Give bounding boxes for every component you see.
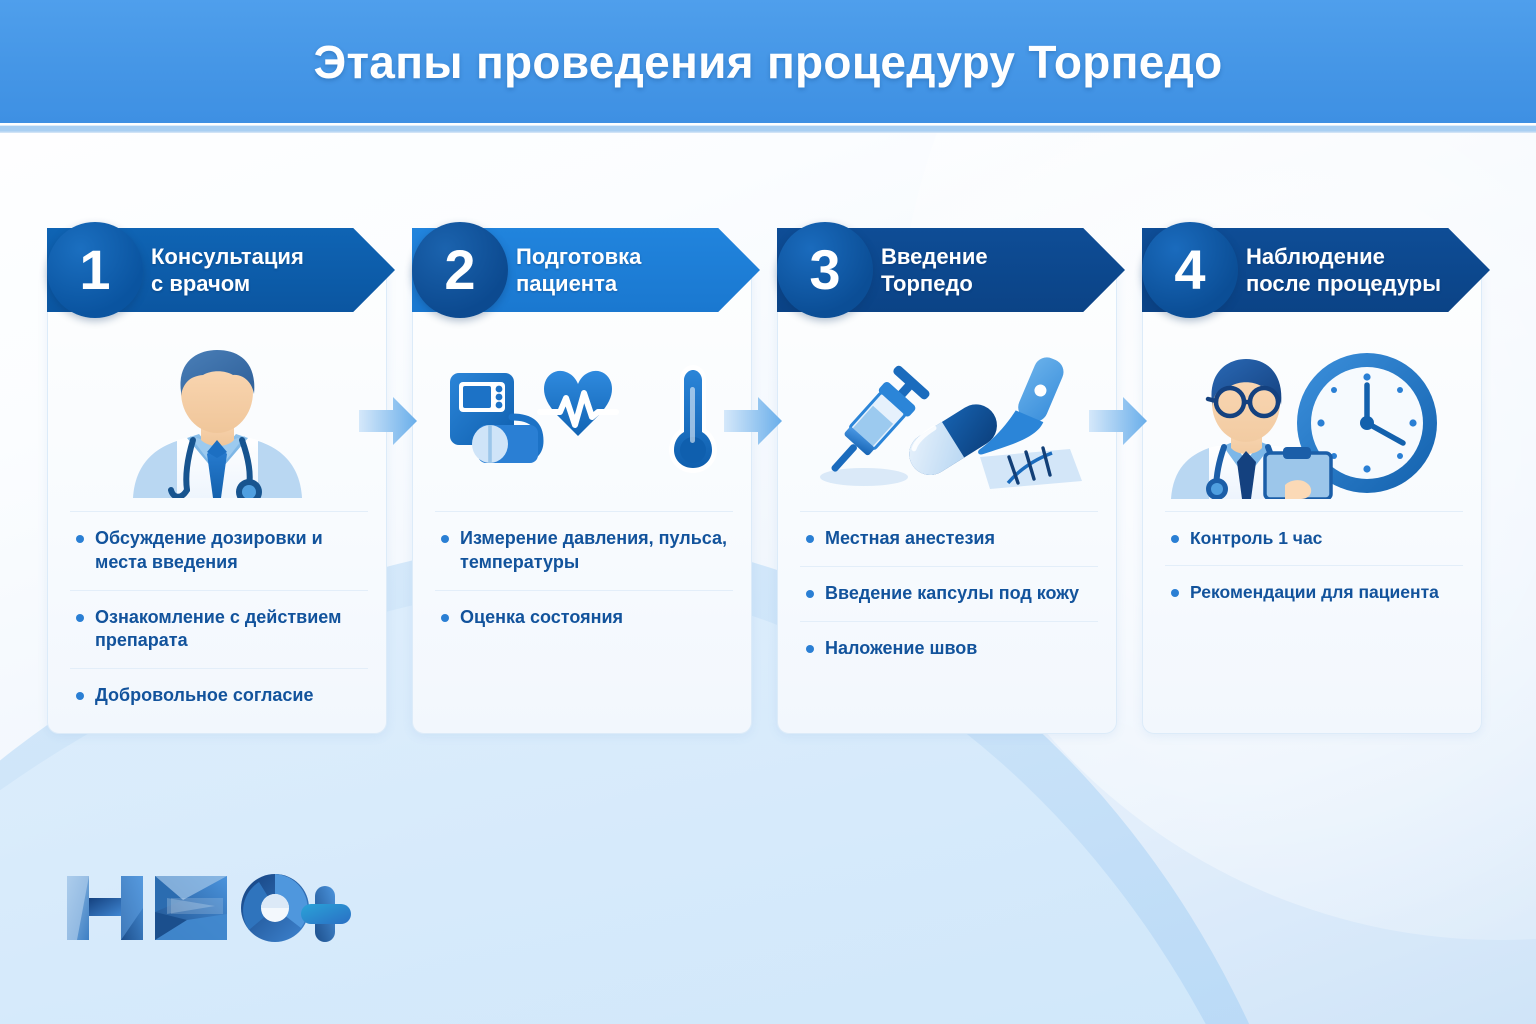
logo-letter-e bbox=[155, 876, 227, 940]
bullet-label: Наложение швов bbox=[825, 637, 977, 661]
step-number-label: 4 bbox=[1174, 242, 1205, 298]
step-4-bullet-list: Контроль 1 час Рекомендации для пациента bbox=[1165, 511, 1463, 619]
infographic-stage: Этапы проведения процедуру Торпедо bbox=[0, 0, 1536, 1024]
steps-container: Обсуждение дозировки и места введения Оз… bbox=[0, 228, 1536, 748]
step-3-illustration bbox=[778, 347, 1116, 499]
arrow-step3-to-step4 bbox=[1087, 395, 1149, 447]
bullet-dot-icon bbox=[441, 614, 449, 622]
step-3-bullet-list: Местная анестезия Введение капсулы под к… bbox=[800, 511, 1098, 675]
list-item: Обсуждение дозировки и места введения bbox=[70, 511, 368, 590]
header-accent-rule bbox=[0, 123, 1536, 133]
syringe-capsule-scalpel-icon bbox=[802, 353, 1092, 493]
bullet-dot-icon bbox=[441, 535, 449, 543]
thermometer-icon bbox=[669, 365, 717, 473]
step-1-title: Консультация с врачом bbox=[151, 243, 304, 298]
blood-pressure-monitor-icon bbox=[450, 373, 540, 463]
vitals-icons bbox=[444, 363, 720, 483]
step-number-label: 2 bbox=[444, 242, 475, 298]
bullet-label: Добровольное согласие bbox=[95, 684, 314, 708]
step-card-1[interactable]: Обсуждение дозировки и места введения Оз… bbox=[47, 262, 387, 734]
step-2-illustration bbox=[413, 347, 751, 499]
bullet-label: Оценка состояния bbox=[460, 606, 623, 630]
bullet-label: Введение капсулы под кожу bbox=[825, 582, 1079, 606]
doctor-clock-icon bbox=[1167, 347, 1457, 499]
step-1-number-badge: 1 bbox=[47, 222, 143, 318]
step-3-title: Введение Торпедо bbox=[881, 243, 988, 298]
bullet-dot-icon bbox=[76, 535, 84, 543]
bullet-dot-icon bbox=[76, 692, 84, 700]
list-item: Измерение давления, пульса, температуры bbox=[435, 511, 733, 590]
logo-plus-icon bbox=[301, 886, 351, 942]
list-item: Добровольное согласие bbox=[70, 668, 368, 723]
neo-plus-logo bbox=[63, 868, 353, 948]
step-4-title: Наблюдение после процедуры bbox=[1246, 243, 1441, 298]
suture-icon bbox=[980, 448, 1082, 489]
logo-letter-n bbox=[67, 876, 143, 940]
page-title: Этапы проведения процедуру Торпедо bbox=[313, 35, 1222, 89]
bullet-dot-icon bbox=[1171, 535, 1179, 543]
step-2-title: Подготовка пациента bbox=[516, 243, 641, 298]
step-4-number-badge: 4 bbox=[1142, 222, 1238, 318]
page-header: Этапы проведения процедуру Торпедо bbox=[0, 0, 1536, 123]
doctor-icon bbox=[115, 348, 320, 498]
bullet-dot-icon bbox=[76, 614, 84, 622]
step-card-2[interactable]: Измерение давления, пульса, температуры … bbox=[412, 262, 752, 734]
list-item: Местная анестезия bbox=[800, 511, 1098, 566]
bullet-label: Рекомендации для пациента bbox=[1190, 581, 1439, 604]
list-item: Оценка состояния bbox=[435, 590, 733, 645]
bullet-dot-icon bbox=[806, 645, 814, 653]
step-number-label: 3 bbox=[809, 242, 840, 298]
list-item: Ознакомление с действием препарата bbox=[70, 590, 368, 669]
bullet-dot-icon bbox=[806, 590, 814, 598]
step-3-number-badge: 3 bbox=[777, 222, 873, 318]
list-item: Контроль 1 час bbox=[1165, 511, 1463, 565]
bullet-label: Измерение давления, пульса, температуры bbox=[460, 527, 729, 575]
bullet-label: Местная анестезия bbox=[825, 527, 995, 551]
step-card-4[interactable]: Контроль 1 час Рекомендации для пациента bbox=[1142, 262, 1482, 734]
step-2-bullet-list: Измерение давления, пульса, температуры … bbox=[435, 511, 733, 644]
bullet-label: Обсуждение дозировки и места введения bbox=[95, 527, 364, 575]
arrow-step2-to-step3 bbox=[722, 395, 784, 447]
list-item: Введение капсулы под кожу bbox=[800, 566, 1098, 621]
step-4-illustration bbox=[1143, 347, 1481, 499]
bullet-label: Ознакомление с действием препарата bbox=[95, 606, 364, 654]
logo-letter-o bbox=[241, 874, 309, 942]
bullet-dot-icon bbox=[1171, 589, 1179, 597]
step-2-number-badge: 2 bbox=[412, 222, 508, 318]
step-1-bullet-list: Обсуждение дозировки и места введения Оз… bbox=[70, 511, 368, 723]
bullet-dot-icon bbox=[806, 535, 814, 543]
step-number-label: 1 bbox=[79, 242, 110, 298]
arrow-step1-to-step2 bbox=[357, 395, 419, 447]
step-1-illustration bbox=[48, 347, 386, 499]
step-card-3[interactable]: Местная анестезия Введение капсулы под к… bbox=[777, 262, 1117, 734]
bullet-label: Контроль 1 час bbox=[1190, 527, 1322, 550]
list-item: Рекомендации для пациента bbox=[1165, 565, 1463, 619]
heart-pulse-icon bbox=[540, 371, 616, 436]
list-item: Наложение швов bbox=[800, 621, 1098, 676]
